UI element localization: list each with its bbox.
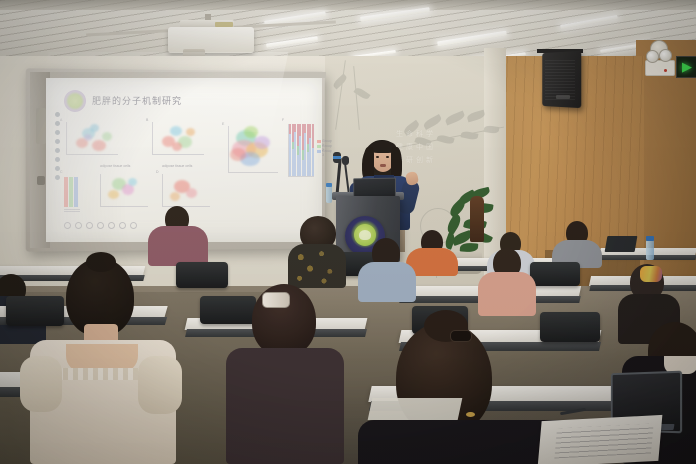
hair-tie-icon [450, 330, 472, 342]
chair-row2-a [176, 262, 228, 288]
wall-decal-text-line-1: 生命科学 [396, 128, 468, 141]
wall-decal-text: 生命科学 健康中国 科研创新 [396, 128, 468, 168]
presenter-eye-left [376, 156, 379, 158]
volume-icon[interactable] [55, 130, 60, 135]
water-bottle-desk [646, 240, 654, 260]
blouse-sleeve-left [20, 356, 62, 412]
emergency-lamp-right [659, 49, 672, 62]
audience-torso-hairclip [226, 348, 344, 464]
chair-row3-a [6, 296, 64, 326]
menu-icon[interactable] [55, 157, 60, 162]
chair-row3-b [200, 296, 256, 324]
audience-torso-lightblue [358, 262, 416, 302]
microphone-head-right [342, 156, 349, 165]
wall-decal-text-line-2: 健康中国 [396, 141, 468, 154]
presenter-eye-right [386, 156, 389, 158]
chair-row3-d [540, 312, 600, 342]
power-icon[interactable] [55, 112, 60, 117]
hair-bun-cream-blouse [86, 252, 116, 272]
smartboard-control-plate[interactable] [36, 108, 46, 144]
microphone-blue-band [333, 156, 341, 159]
freeze-icon[interactable] [55, 139, 60, 144]
smartboard-power-button[interactable] [37, 176, 45, 185]
necklace-icon [466, 412, 475, 417]
emergency-indicator-led [664, 69, 667, 72]
smartboard-icon-strip[interactable] [54, 112, 61, 224]
audience-torso-row1-left [148, 226, 208, 266]
crest-swirl-mark [359, 230, 371, 240]
presenter-mouth [380, 164, 386, 167]
lecture-hall-photo: 生命科学 健康中国 科研创新 ▶ 肥胖的分子机制研究 A [0, 0, 696, 464]
hair-clip-icon [262, 292, 290, 308]
exit-sign-glyph: ▶ [682, 60, 692, 75]
exit-sign: ▶ [676, 56, 696, 78]
chair-row2-c [530, 262, 580, 286]
blouse-ruffle [58, 368, 150, 380]
handout-text-lines [554, 424, 653, 459]
decor-vase [470, 196, 484, 242]
speaker-brand-label [556, 95, 570, 99]
emergency-lamp-left [646, 50, 659, 63]
settings-icon[interactable] [55, 175, 60, 180]
floral-pattern-overlay [288, 244, 346, 288]
home-icon[interactable] [55, 166, 60, 171]
blank-icon[interactable] [55, 148, 60, 153]
wall-decal-text-line-3: 科研创新 [396, 154, 468, 167]
input-icon[interactable] [55, 121, 60, 126]
desk-paper-mid [368, 398, 463, 420]
speaker-grille [545, 58, 575, 100]
ceiling-shadow [0, 0, 696, 10]
audience-torso-row2-right [478, 272, 536, 316]
laptop-desk-far-right [605, 236, 638, 252]
legend-label-3: Group 3 [322, 149, 332, 157]
water-bottle-cap [326, 183, 332, 187]
hair-accessory-icon [640, 266, 662, 282]
water-bottle-desk-cap [646, 236, 654, 241]
ceiling-projector [168, 27, 254, 53]
blouse-sleeve-right [138, 356, 182, 414]
